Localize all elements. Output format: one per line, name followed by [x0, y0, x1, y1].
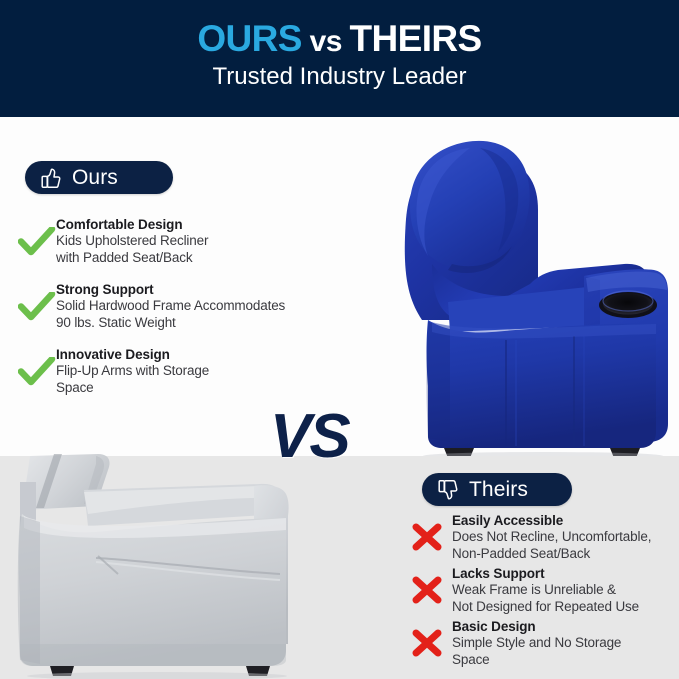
comparison-infographic: OURS vs THEIRS Trusted Industry Leader [0, 0, 679, 679]
vs-divider-label: VS [270, 406, 349, 468]
list-item: Lacks Support Weak Frame is Unreliable &… [410, 565, 679, 615]
list-item: Comfortable Design Kids Upholstered Recl… [18, 216, 348, 267]
cross-icon [410, 575, 452, 615]
list-item: Basic Design Simple Style and No Storage… [410, 618, 679, 668]
ours-product-image [388, 124, 678, 456]
feature-text: Easily Accessible Does Not Recline, Unco… [452, 512, 679, 562]
theirs-badge-label: Theirs [469, 478, 528, 502]
feature-text: Strong Support Solid Hardwood Frame Acco… [56, 281, 348, 331]
list-item: Strong Support Solid Hardwood Frame Acco… [18, 281, 348, 332]
check-icon [18, 292, 56, 332]
ours-badge: Ours [25, 161, 173, 194]
cross-icon [410, 522, 452, 562]
feature-text: Comfortable Design Kids Upholstered Recl… [56, 216, 348, 266]
feature-desc: Flip-Up Arms with Storage Space [56, 363, 348, 396]
check-icon [18, 357, 56, 397]
feature-title: Lacks Support [452, 565, 679, 582]
list-item: Innovative Design Flip-Up Arms with Stor… [18, 346, 348, 397]
thumbs-up-icon [39, 166, 63, 190]
feature-title: Comfortable Design [56, 216, 348, 233]
feature-text: Lacks Support Weak Frame is Unreliable &… [452, 565, 679, 615]
theirs-product-image [0, 448, 312, 679]
ours-feature-list: Comfortable Design Kids Upholstered Recl… [18, 216, 348, 411]
check-icon [18, 227, 56, 267]
title-ours-word: OURS [197, 18, 302, 59]
list-item: Easily Accessible Does Not Recline, Unco… [410, 512, 679, 562]
feature-desc: Simple Style and No Storage Space [452, 635, 679, 668]
header-banner: OURS vs THEIRS Trusted Industry Leader [0, 0, 679, 117]
title-vs-word: vs [302, 25, 350, 58]
feature-desc: Kids Upholstered Recliner with Padded Se… [56, 233, 348, 266]
title-theirs-word: THEIRS [350, 18, 482, 59]
theirs-feature-list: Easily Accessible Does Not Recline, Unco… [410, 512, 679, 671]
page-title: OURS vs THEIRS [0, 18, 679, 63]
ours-badge-label: Ours [72, 166, 118, 190]
thumbs-down-icon [436, 478, 460, 502]
feature-text: Basic Design Simple Style and No Storage… [452, 618, 679, 668]
feature-title: Innovative Design [56, 346, 348, 363]
feature-title: Easily Accessible [452, 512, 679, 529]
feature-desc: Does Not Recline, Uncomfortable, Non-Pad… [452, 529, 679, 562]
theirs-badge: Theirs [422, 473, 572, 506]
feature-desc: Solid Hardwood Frame Accommodates 90 lbs… [56, 298, 348, 331]
feature-text: Innovative Design Flip-Up Arms with Stor… [56, 346, 348, 396]
cross-icon [410, 628, 452, 668]
page-subtitle: Trusted Industry Leader [0, 62, 679, 92]
feature-desc: Weak Frame is Unreliable & Not Designed … [452, 582, 679, 615]
feature-title: Basic Design [452, 618, 679, 635]
feature-title: Strong Support [56, 281, 348, 298]
